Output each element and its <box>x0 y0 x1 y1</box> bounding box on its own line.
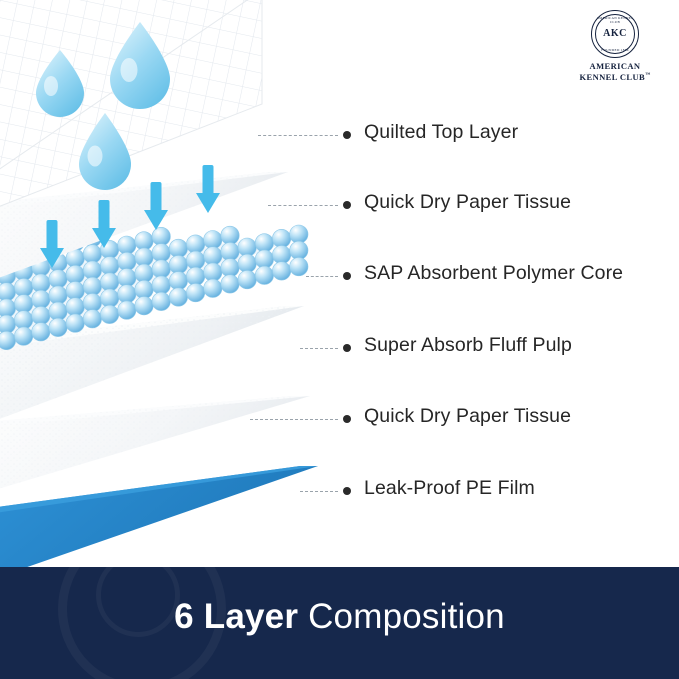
leader-line <box>258 135 338 137</box>
banner-title-bold: 6 Layer <box>174 597 298 636</box>
banner-title: 6 Layer Composition <box>0 597 679 637</box>
label-super-absorb-fluff-pulp: Super Absorb Fluff Pulp <box>364 334 572 357</box>
leader-line <box>300 348 338 350</box>
label-quick-dry-paper-tissue-top: Quick Dry Paper Tissue <box>364 191 571 214</box>
diagram-canvas: Quilted Top Layer Quick Dry Paper Tissue… <box>0 0 679 679</box>
seal-top-text: AMERICAN KENNEL CLUB <box>592 16 638 24</box>
bottom-banner: 6 Layer Composition <box>0 567 679 679</box>
callout-dot <box>343 131 351 139</box>
akc-seal-icon: AMERICAN KENNEL CLUB AKC FOUNDED 1884 <box>591 10 639 58</box>
leader-line <box>268 205 338 207</box>
akc-logo: AMERICAN KENNEL CLUB AKC FOUNDED 1884 AM… <box>569 10 661 82</box>
label-leak-proof-pe-film: Leak-Proof PE Film <box>364 477 535 500</box>
brand-name: AMERICAN KENNEL CLUB™ <box>569 61 661 82</box>
label-sap-absorbent-polymer-core: SAP Absorbent Polymer Core <box>364 262 623 285</box>
leader-line <box>300 491 338 493</box>
brand-name-line1: AMERICAN <box>590 61 641 71</box>
callout-dot <box>343 415 351 423</box>
brand-name-line2: KENNEL CLUB <box>580 72 646 82</box>
callout-dot <box>343 201 351 209</box>
leader-line <box>250 419 338 421</box>
callout-dot <box>343 344 351 352</box>
trademark-symbol: ™ <box>645 73 650 78</box>
label-quilted-top-layer: Quilted Top Layer <box>364 121 518 144</box>
seal-bottom-text: FOUNDED 1884 <box>592 48 638 52</box>
leader-line <box>306 276 338 278</box>
label-quick-dry-paper-tissue-bottom: Quick Dry Paper Tissue <box>364 405 571 428</box>
callout-dot <box>343 487 351 495</box>
callout-dot <box>343 272 351 280</box>
seal-initials: AKC <box>592 28 638 39</box>
banner-title-rest: Composition <box>298 597 505 636</box>
